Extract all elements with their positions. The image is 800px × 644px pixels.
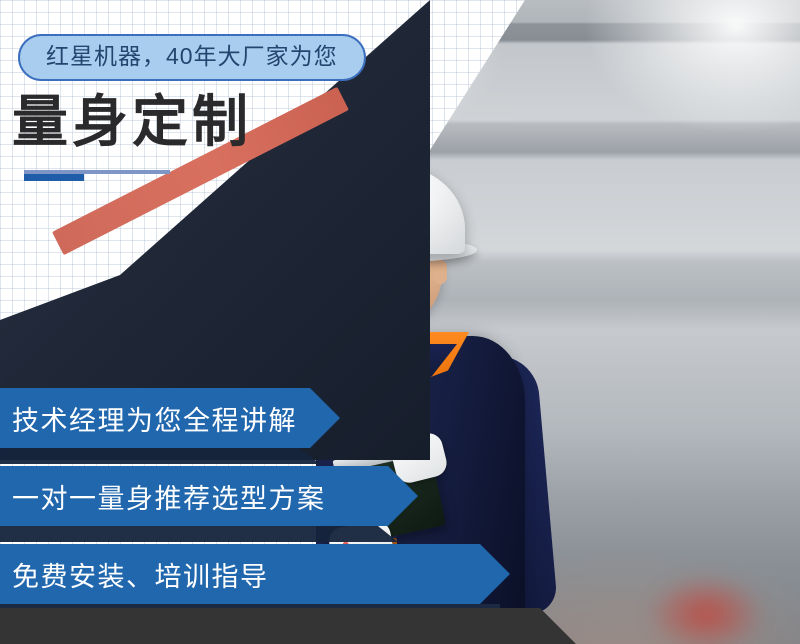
feature-banner-3: 免费安装、培训指导 — [0, 544, 510, 604]
feature-banner-1: 技术经理为您全程讲解 — [0, 388, 340, 448]
bottom-dark-bar — [0, 608, 576, 644]
feature-banner-2-label: 一对一量身推荐选型方案 — [12, 477, 326, 516]
headline-underline-dark — [24, 174, 84, 181]
page-title: 量身定制 — [12, 94, 252, 150]
tagline-badge: 红星机器，40年大厂家为您 — [18, 34, 366, 81]
feature-banner-shadow — [0, 448, 320, 464]
feature-banner-3-label: 免费安装、培训指导 — [12, 555, 269, 594]
worker-ear — [433, 260, 447, 284]
promo-banner: 红星机器，40年大厂家为您 量身定制 技术经理为您全程讲解 一对一量身推荐选型方… — [0, 0, 800, 644]
background-red-blur — [646, 574, 766, 644]
feature-banner-shadow — [0, 526, 398, 542]
feature-banner-2: 一对一量身推荐选型方案 — [0, 466, 418, 526]
feature-banner-1-label: 技术经理为您全程讲解 — [12, 399, 297, 438]
